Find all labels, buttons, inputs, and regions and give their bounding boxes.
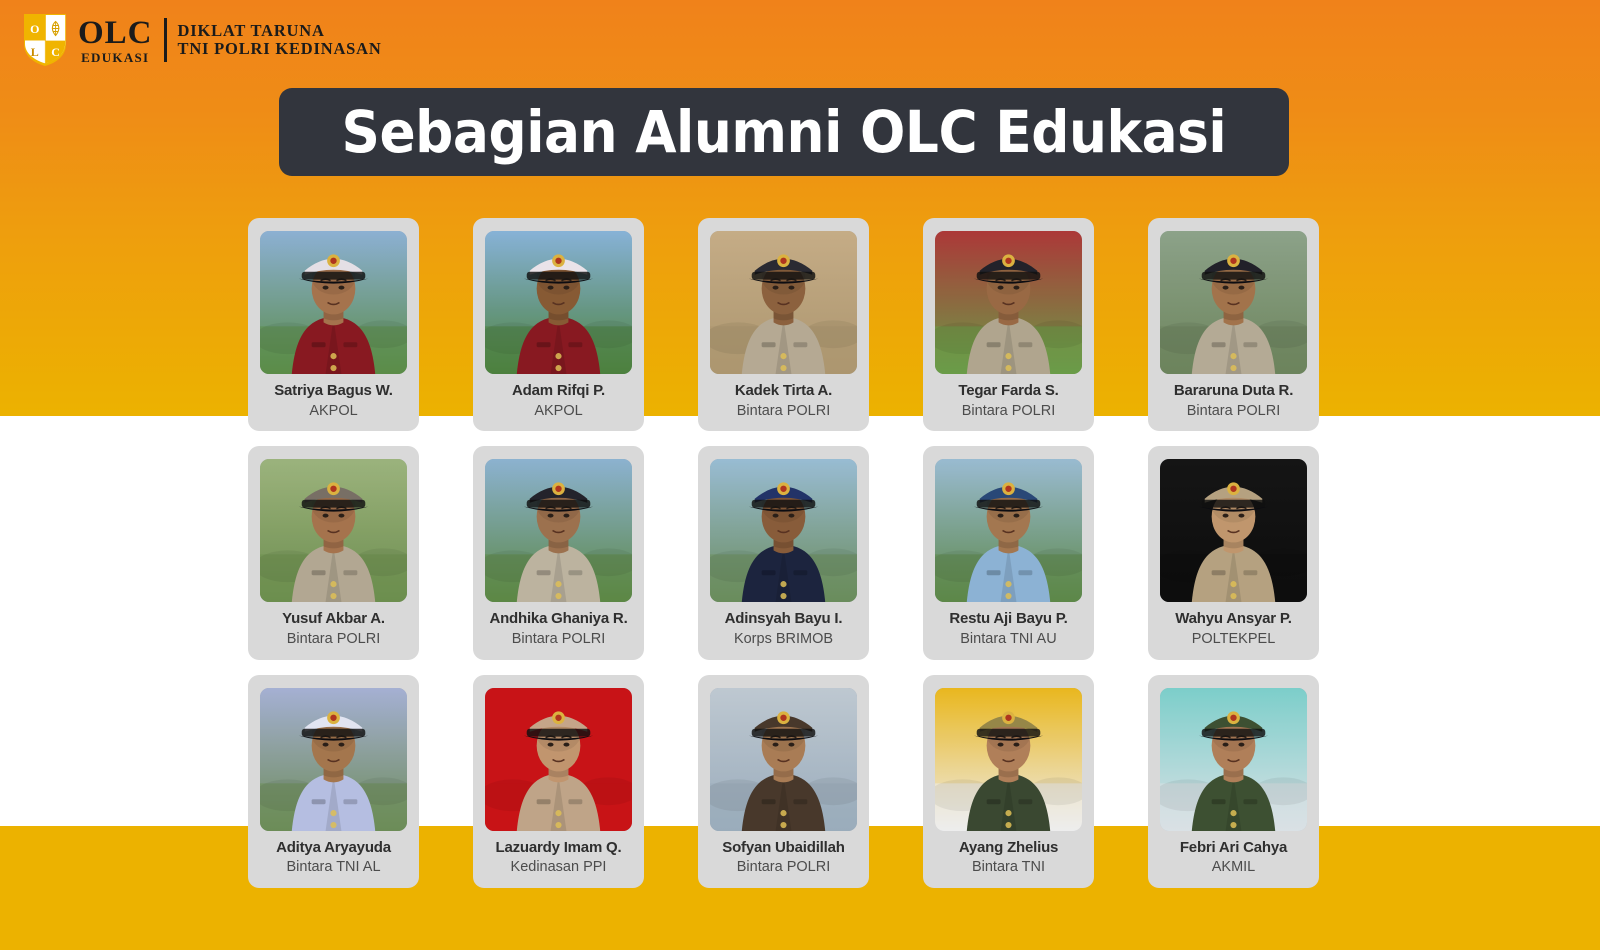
olc-shield-icon: O L C	[22, 12, 68, 68]
alumni-role: AKMIL	[1212, 860, 1256, 876]
alumni-photo-ayang-zhelius	[935, 688, 1082, 831]
alumni-photo-aditya-aryayuda	[260, 688, 407, 831]
alumni-name: Wahyu Ansyar P.	[1175, 611, 1292, 628]
alumni-role: Bintara POLRI	[1187, 404, 1281, 420]
alumni-role: AKPOL	[309, 404, 357, 420]
alumni-name: Andhika Ghaniya R.	[489, 611, 627, 628]
alumni-card: Ayang ZheliusBintara TNI	[923, 675, 1094, 888]
alumni-role: Bintara POLRI	[512, 632, 606, 648]
alumni-card: Sofyan UbaidillahBintara POLRI	[698, 675, 869, 888]
page-title: Sebagian Alumni OLC Edukasi	[342, 98, 1227, 166]
alumni-role: Korps BRIMOB	[734, 632, 833, 648]
alumni-role: Kedinasan PPI	[511, 860, 607, 876]
alumni-card: Andhika Ghaniya R.Bintara POLRI	[473, 446, 644, 659]
brand-tagline: DIKLAT TARUNA TNI POLRI KEDINASAN	[178, 22, 382, 59]
alumni-card: Lazuardy Imam Q.Kedinasan PPI	[473, 675, 644, 888]
alumni-name: Adinsyah Bayu I.	[725, 611, 843, 628]
alumni-photo-bararuna-duta-r	[1160, 231, 1307, 374]
alumni-card: Restu Aji Bayu P.Bintara TNI AU	[923, 446, 1094, 659]
alumni-card: Febri Ari CahyaAKMIL	[1148, 675, 1319, 888]
alumni-name: Kadek Tirta A.	[735, 383, 832, 400]
alumni-role: Bintara TNI AL	[286, 860, 380, 876]
alumni-photo-tegar-farda-s	[935, 231, 1082, 374]
alumni-role: POLTEKPEL	[1192, 632, 1276, 648]
brand-tagline-line-2: TNI POLRI KEDINASAN	[178, 40, 382, 58]
alumni-photo-restu-aji-bayu-p	[935, 459, 1082, 602]
alumni-photo-febri-ari-cahya	[1160, 688, 1307, 831]
page-title-banner: Sebagian Alumni OLC Edukasi	[279, 88, 1289, 176]
brand-name-main: OLC	[78, 17, 153, 50]
alumni-name: Tegar Farda S.	[958, 383, 1058, 400]
svg-text:L: L	[31, 45, 39, 59]
alumni-card: Bararuna Duta R.Bintara POLRI	[1148, 218, 1319, 431]
alumni-photo-kadek-tirta-a	[710, 231, 857, 374]
alumni-name: Lazuardy Imam Q.	[495, 840, 621, 857]
alumni-role: Bintara POLRI	[737, 404, 831, 420]
brand-tagline-line-1: DIKLAT TARUNA	[178, 22, 382, 40]
alumni-card: Aditya AryayudaBintara TNI AL	[248, 675, 419, 888]
alumni-name: Restu Aji Bayu P.	[949, 611, 1067, 628]
alumni-name: Sofyan Ubaidillah	[722, 840, 844, 857]
alumni-card: Adinsyah Bayu I.Korps BRIMOB	[698, 446, 869, 659]
poster-canvas: O L C OLC EDUKASI DIKLAT TARUNA TNI POLR…	[0, 0, 1600, 950]
alumni-photo-adinsyah-bayu-i	[710, 459, 857, 602]
brand-name-block: OLC EDUKASI	[78, 17, 153, 64]
alumni-role: Bintara TNI AU	[960, 632, 1056, 648]
alumni-card: Yusuf Akbar A.Bintara POLRI	[248, 446, 419, 659]
alumni-photo-sofyan-ubaidillah	[710, 688, 857, 831]
alumni-name: Aditya Aryayuda	[276, 840, 391, 857]
alumni-card: Tegar Farda S.Bintara POLRI	[923, 218, 1094, 431]
alumni-photo-lazuardy-imam-q	[485, 688, 632, 831]
alumni-name: Febri Ari Cahya	[1180, 840, 1287, 857]
alumni-photo-andhika-ghaniya-r	[485, 459, 632, 602]
alumni-name: Satriya Bagus W.	[274, 383, 393, 400]
alumni-card: Satriya Bagus W.AKPOL	[248, 218, 419, 431]
alumni-photo-adam-rifqi-p	[485, 231, 632, 374]
alumni-role: Bintara POLRI	[962, 404, 1056, 420]
alumni-card: Kadek Tirta A.Bintara POLRI	[698, 218, 869, 431]
svg-text:O: O	[30, 22, 39, 36]
alumni-name: Ayang Zhelius	[959, 840, 1058, 857]
brand-logo: O L C OLC EDUKASI DIKLAT TARUNA TNI POLR…	[22, 12, 382, 68]
alumni-card: Adam Rifqi P.AKPOL	[473, 218, 644, 431]
alumni-role: AKPOL	[534, 404, 582, 420]
alumni-name: Yusuf Akbar A.	[282, 611, 385, 628]
alumni-card: Wahyu Ansyar P.POLTEKPEL	[1148, 446, 1319, 659]
brand-divider	[164, 18, 167, 62]
alumni-photo-yusuf-akbar-a	[260, 459, 407, 602]
svg-text:C: C	[51, 45, 60, 59]
alumni-role: Bintara TNI	[972, 860, 1045, 876]
alumni-photo-wahyu-ansyar-p	[1160, 459, 1307, 602]
alumni-grid: Satriya Bagus W.AKPOL	[248, 218, 1376, 888]
alumni-photo-satriya-bagus-w	[260, 231, 407, 374]
alumni-name: Bararuna Duta R.	[1174, 383, 1293, 400]
brand-name-sub: EDUKASI	[81, 51, 149, 64]
alumni-role: Bintara POLRI	[737, 860, 831, 876]
alumni-role: Bintara POLRI	[287, 632, 381, 648]
alumni-name: Adam Rifqi P.	[512, 383, 605, 400]
brand-wordmark: OLC EDUKASI DIKLAT TARUNA TNI POLRI KEDI…	[78, 17, 382, 64]
